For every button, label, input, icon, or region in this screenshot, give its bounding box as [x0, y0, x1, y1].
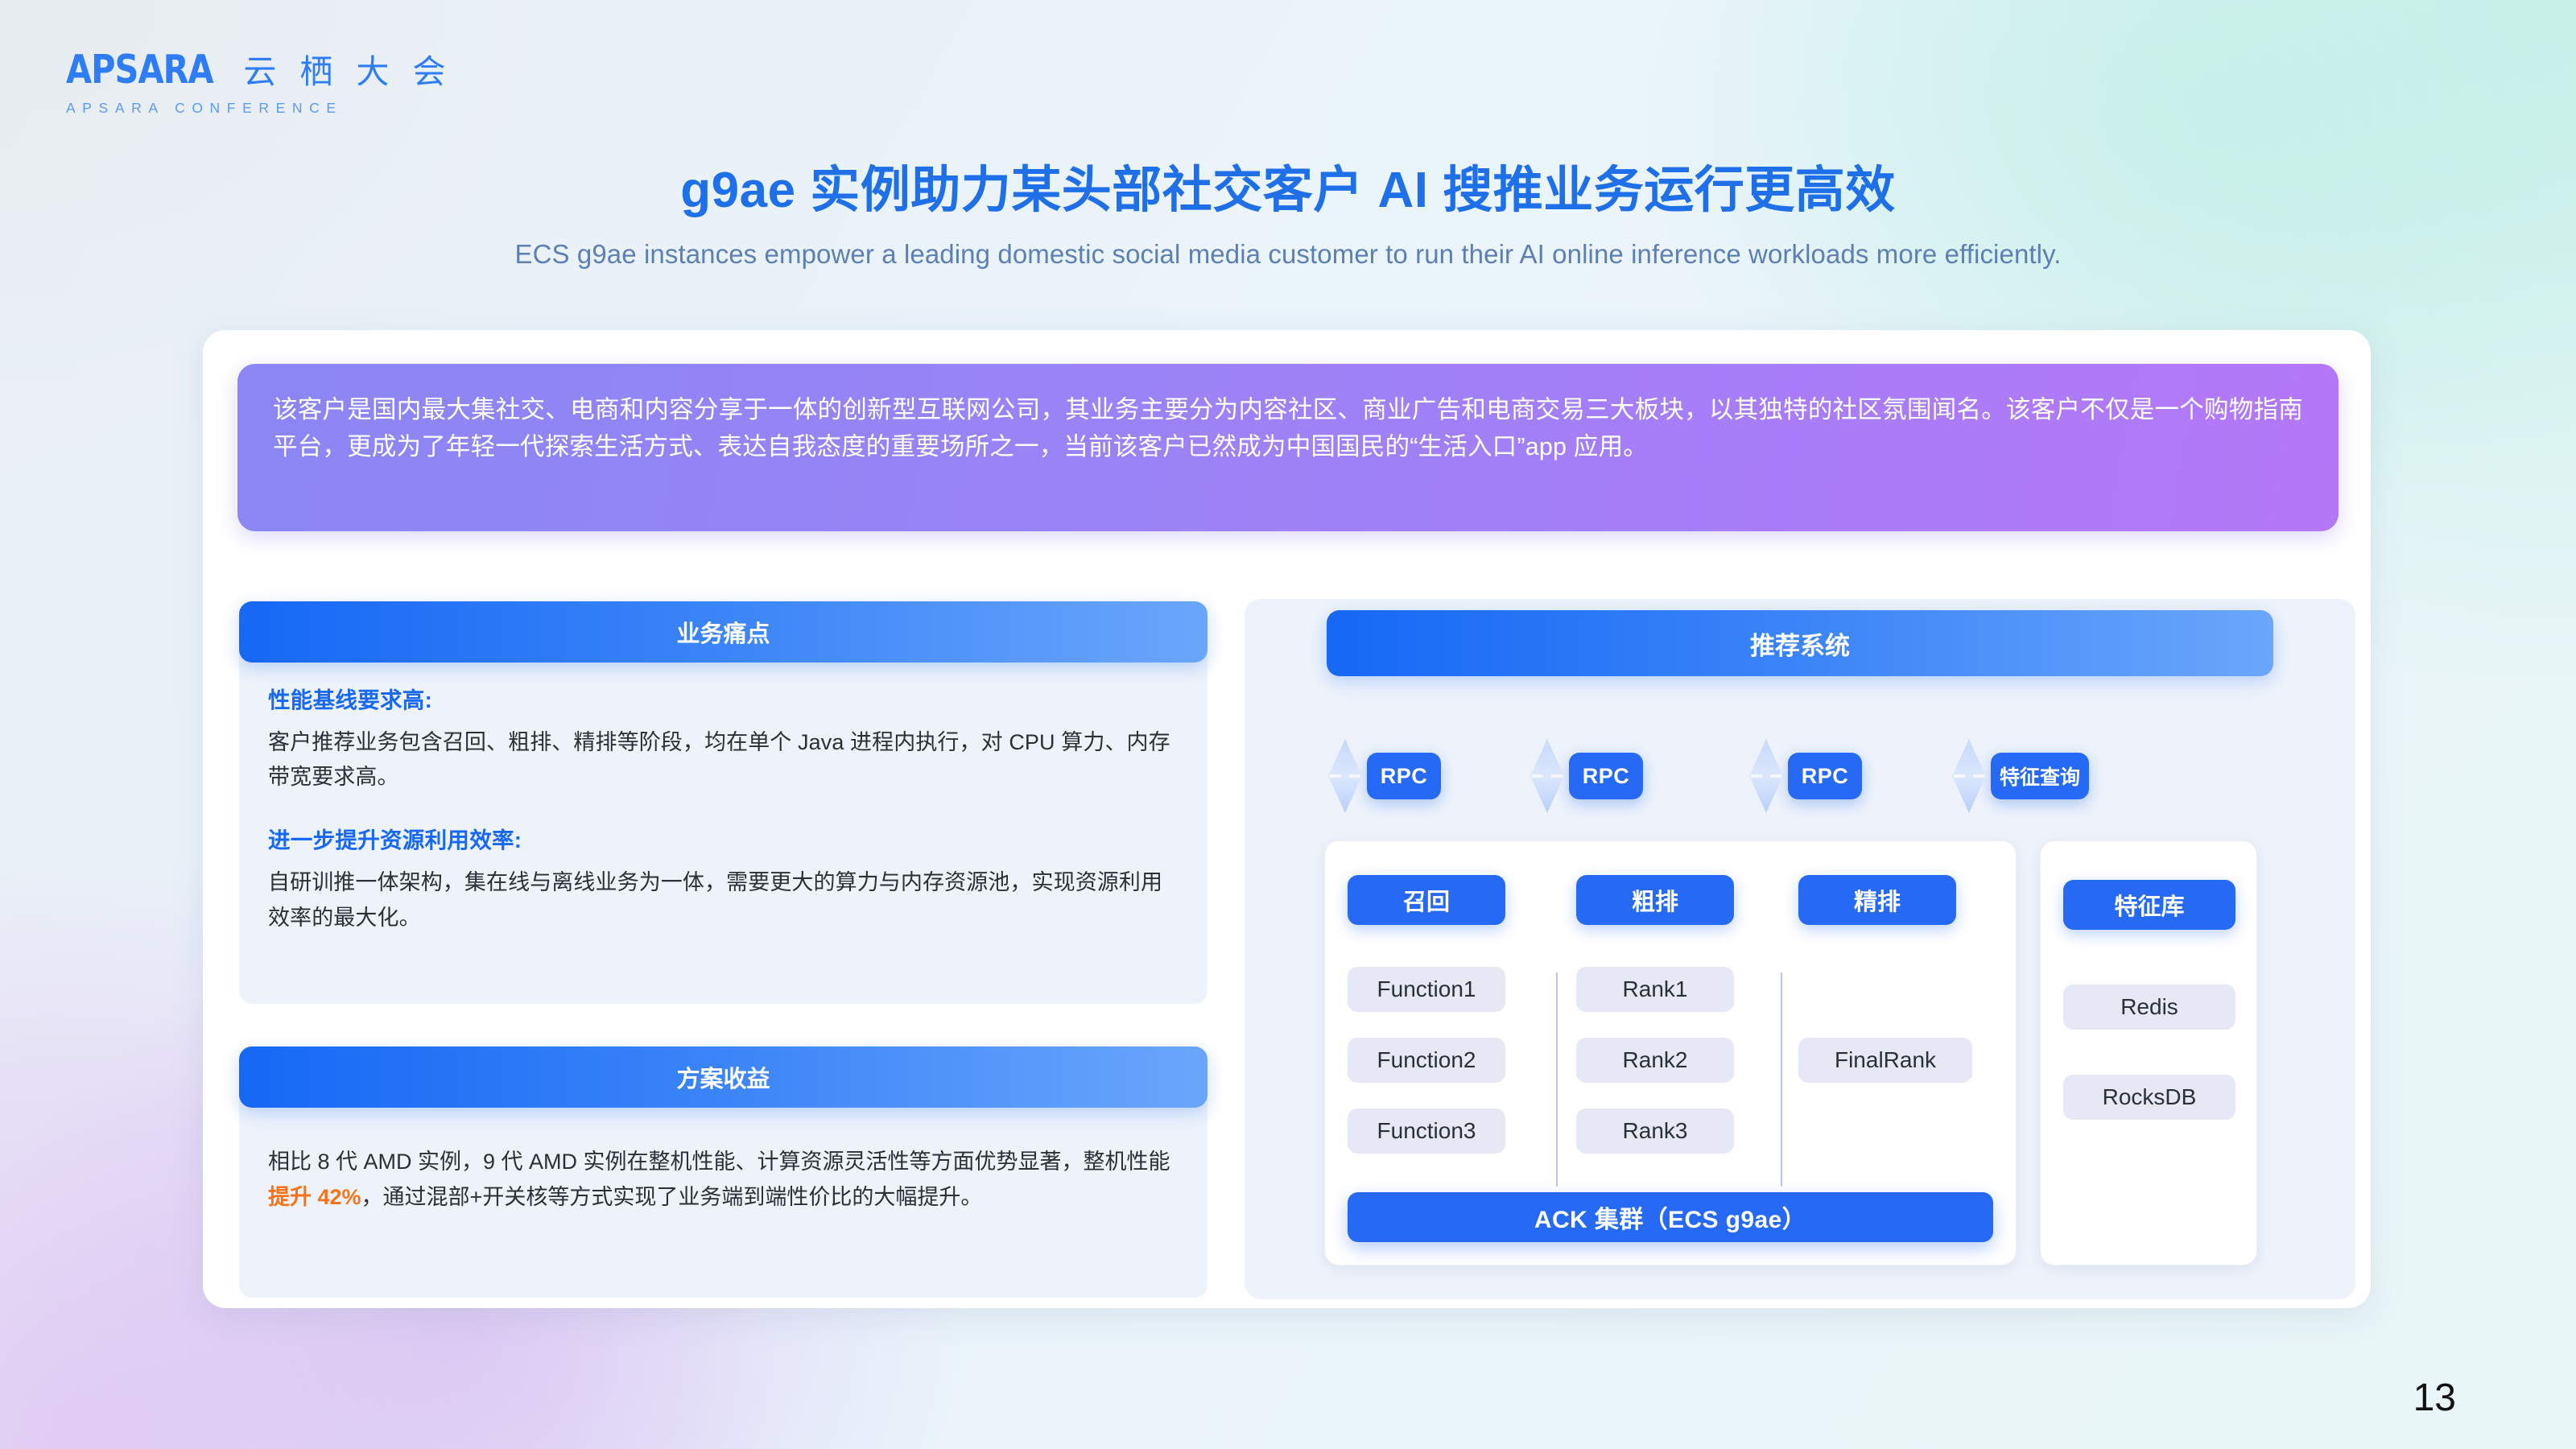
node-redis: Redis: [2063, 985, 2235, 1030]
double-arrow-icon: [1951, 737, 1988, 815]
logo-wordmark: APSARA: [66, 47, 213, 93]
feature-store-head: 特征库: [2063, 880, 2235, 930]
stage-head-recall: 召回: [1348, 875, 1505, 925]
page-number: 13: [2413, 1376, 2456, 1420]
rpc-chip-2: RPC: [1569, 753, 1643, 799]
benefits-header: 方案收益: [239, 1046, 1207, 1108]
rpc-group-1: RPC: [1327, 732, 1441, 820]
double-arrow-icon: [1529, 737, 1566, 815]
stage-head-coarse: 粗排: [1576, 875, 1734, 925]
recsys-header: 推荐系统: [1327, 610, 2273, 676]
benefit-text-part1: 相比 8 代 AMD 实例，9 代 AMD 实例在整机性能、计算资源灵活性等方面…: [268, 1150, 1170, 1174]
column-divider-1: [1556, 972, 1558, 1187]
pain-point-2-text: 自研训推一体架构，集在线与离线业务为一体，需要更大的算力与内存资源池，实现资源利…: [268, 865, 1179, 935]
rpc-chip-1: RPC: [1367, 753, 1441, 799]
column-divider-2: [1781, 972, 1782, 1187]
feature-query-chip: 特征查询: [1991, 753, 2089, 799]
rpc-group-3: RPC: [1748, 732, 1862, 820]
pain-points-header: 业务痛点: [239, 601, 1207, 663]
benefits-body: 相比 8 代 AMD 实例，9 代 AMD 实例在整机性能、计算资源灵活性等方面…: [239, 1145, 1207, 1215]
rpc-group-2: RPC: [1529, 732, 1643, 820]
feature-store-card: 特征库 Redis RocksDB: [2040, 840, 2257, 1265]
benefit-highlight: 提升 42%: [268, 1185, 361, 1209]
page-subtitle: ECS g9ae instances empower a leading dom…: [0, 239, 2576, 270]
node-function2: Function2: [1348, 1038, 1505, 1083]
node-rank1: Rank1: [1576, 967, 1734, 1012]
customer-intro-box: 该客户是国内最大集社交、电商和内容分享于一体的创新型互联网公司，其业务主要分为内…: [237, 364, 2339, 531]
ack-cluster-bar: ACK 集群（ECS g9ae）: [1348, 1192, 1993, 1242]
page-title: g9ae 实例助力某头部社交客户 AI 搜推业务运行更高效: [0, 149, 2576, 221]
pain-point-1-lead: 性能基线要求高:: [268, 682, 1179, 714]
rpc-chip-3: RPC: [1788, 753, 1862, 799]
node-function1: Function1: [1348, 967, 1505, 1012]
pain-point-1-text: 客户推荐业务包含召回、粗排、精排等阶段，均在单个 Java 进程内执行，对 CP…: [268, 725, 1179, 795]
rpc-connector-row: RPC RPC RPC: [1327, 732, 2273, 820]
benefits-panel: 方案收益 相比 8 代 AMD 实例，9 代 AMD 实例在整机性能、计算资源灵…: [239, 1046, 1207, 1298]
rpc-group-4: 特征查询: [1951, 732, 2089, 820]
apsara-logo: APSARA 云 栖 大 会 APSARA CONFERENCE: [66, 44, 452, 117]
benefit-text-part2: ，通过混部+开关核等方式实现了业务端到端性价比的大幅提升。: [361, 1185, 983, 1209]
logo-wordmark-cn: 云 栖 大 会: [243, 44, 452, 93]
node-finalrank: FinalRank: [1798, 1038, 1972, 1083]
double-arrow-icon: [1327, 737, 1364, 815]
node-rocksdb: RocksDB: [2063, 1075, 2235, 1120]
stage-head-fine: 精排: [1798, 875, 1956, 925]
pipeline-card: 召回 粗排 精排 Function1 Function2 Function3 R…: [1324, 840, 2017, 1265]
logo-subtitle: APSARA CONFERENCE: [66, 100, 452, 117]
pain-points-body: 性能基线要求高: 客户推荐业务包含召回、粗排、精排等阶段，均在单个 Java 进…: [239, 682, 1207, 935]
pain-points-panel: 业务痛点 性能基线要求高: 客户推荐业务包含召回、粗排、精排等阶段，均在单个 J…: [239, 601, 1207, 1004]
node-rank2: Rank2: [1576, 1038, 1734, 1083]
node-function3: Function3: [1348, 1108, 1505, 1154]
node-rank3: Rank3: [1576, 1108, 1734, 1154]
double-arrow-icon: [1748, 737, 1785, 815]
pain-point-2-lead: 进一步提升资源利用效率:: [268, 822, 1179, 854]
